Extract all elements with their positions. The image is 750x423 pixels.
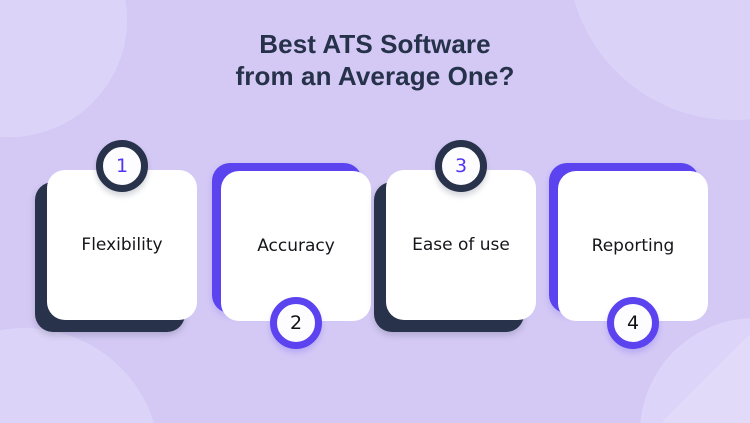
card-ease-of-use[interactable]: Ease of use 3: [386, 170, 536, 320]
card-accuracy[interactable]: Accuracy 2: [221, 171, 371, 321]
card-label: Flexibility: [81, 235, 162, 255]
card-number-badge: 4: [607, 297, 659, 349]
card-surface: Ease of use: [386, 170, 536, 320]
card-number: 2: [290, 314, 302, 333]
card-number: 3: [455, 157, 467, 176]
card-reporting[interactable]: Reporting 4: [558, 171, 708, 321]
card-number-badge: 3: [435, 140, 487, 192]
card-number: 4: [627, 314, 639, 333]
card-number: 1: [116, 157, 128, 176]
card-label: Accuracy: [257, 236, 335, 256]
card-flexibility[interactable]: Flexibility 1: [47, 170, 197, 320]
card-surface: Flexibility: [47, 170, 197, 320]
card-row: Flexibility 1 Accuracy 2 Ease of use 3: [0, 0, 750, 423]
card-number-badge: 1: [96, 140, 148, 192]
card-label: Ease of use: [412, 235, 510, 255]
card-number-badge: 2: [270, 297, 322, 349]
infographic-canvas: Best ATS Software from an Average One? F…: [0, 0, 750, 423]
card-label: Reporting: [592, 236, 675, 256]
